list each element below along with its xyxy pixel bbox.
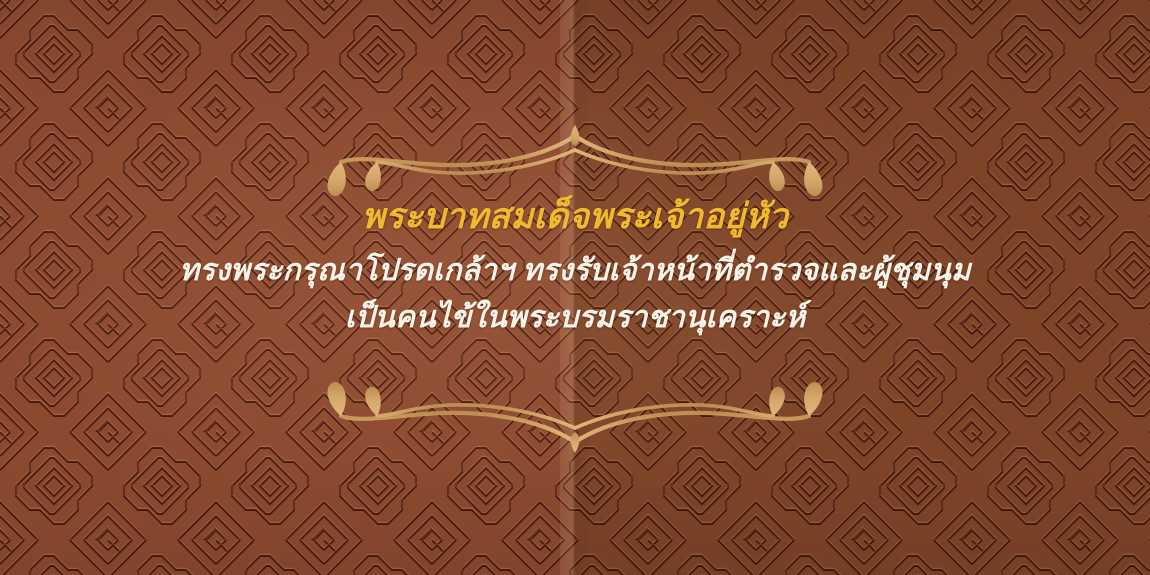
announcement-line-2: ทรงพระกรุณาโปรดเกล้าฯ ทรงรับเจ้าหน้าที่ต… (70, 248, 1080, 293)
announcement-line-3: เป็นคนไข้ในพระบรมราชานุเคราะห์ (70, 295, 1080, 340)
announcement-text-block: พระบาทสมเด็จพระเจ้าอยู่หัว ทรงพระกรุณาโป… (0, 196, 1150, 340)
announcement-headline: พระบาทสมเด็จพระเจ้าอยู่หัว (70, 196, 1080, 239)
royal-announcement-banner: พระบาทสมเด็จพระเจ้าอยู่หัว ทรงพระกรุณาโป… (0, 0, 1150, 575)
